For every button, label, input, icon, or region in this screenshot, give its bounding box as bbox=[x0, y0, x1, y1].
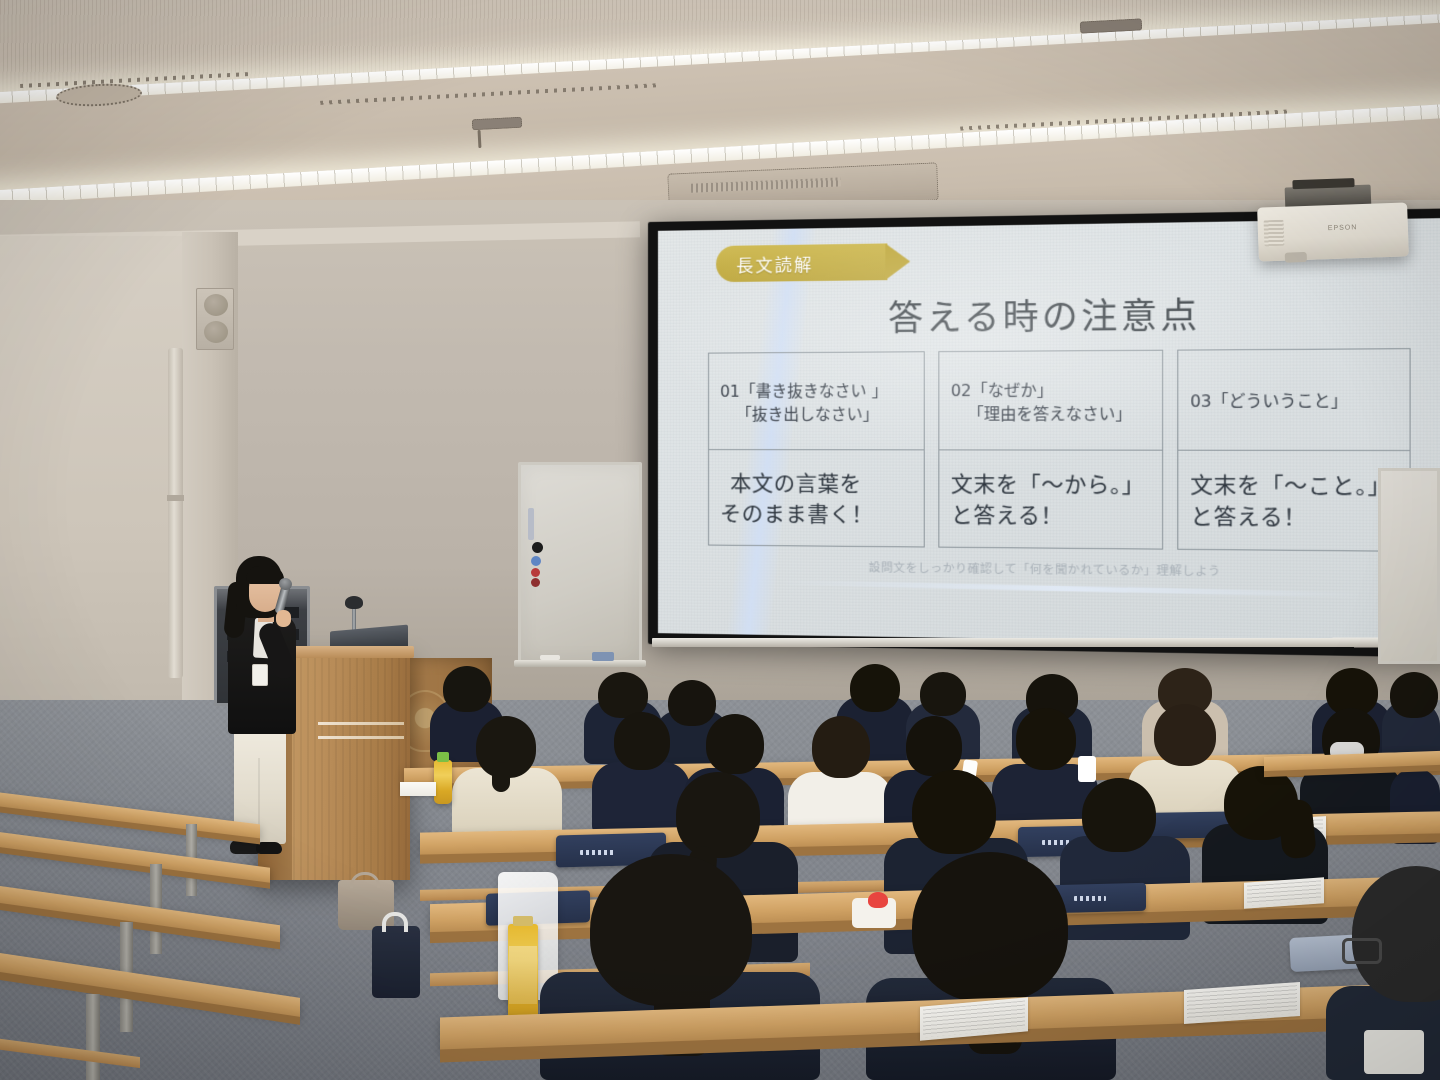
slide-cell-prompt: 01「書き抜きなさい 」 「抜き出しなさい」 bbox=[708, 351, 925, 450]
whiteboard-magnet bbox=[531, 578, 540, 587]
slide-section-tab-label: 長文読解 bbox=[736, 250, 813, 276]
student-head bbox=[443, 666, 491, 712]
projection-screen: 長文読解 答える時の注意点 01「書き抜きなさい 」 「抜き出しなさい」 本文の… bbox=[648, 208, 1440, 658]
character-charm bbox=[868, 892, 888, 908]
projection-surface: 長文読解 答える時の注意点 01「書き抜きなさい 」 「抜き出しなさい」 本文の… bbox=[658, 218, 1440, 646]
prompt-line: 03「どういうこと」 bbox=[1190, 390, 1399, 415]
whiteboard bbox=[1378, 468, 1440, 664]
left-wall bbox=[0, 236, 182, 736]
eyeglasses-icon bbox=[1342, 938, 1382, 964]
paper-lines bbox=[1187, 985, 1297, 1021]
student-head bbox=[1390, 672, 1438, 718]
prompt-line: 01「書き抜きなさい 」 bbox=[720, 379, 914, 403]
lecture-hall-scene: 長文読解 答える時の注意点 01「書き抜きなさい 」 「抜き出しなさい」 本文の… bbox=[0, 0, 1440, 1080]
student-head bbox=[706, 714, 764, 774]
whiteboard-tray bbox=[514, 660, 646, 667]
student-head bbox=[1082, 778, 1156, 852]
slide-column-02: 02「なぜか」 「理由を答えなさい」 文末を「〜から。」 と答える！ bbox=[938, 350, 1163, 550]
whiteboard-eraser bbox=[592, 652, 614, 661]
prompt-line: 「理由を答えなさい」 bbox=[951, 403, 1153, 427]
student-head bbox=[1154, 704, 1216, 766]
paper-lines bbox=[1247, 880, 1321, 905]
student-ponytail bbox=[492, 762, 510, 792]
bag-strap bbox=[382, 912, 408, 932]
bag-logo bbox=[1074, 896, 1106, 901]
pipe-joint bbox=[167, 495, 184, 501]
student-head bbox=[614, 712, 670, 770]
whiteboard-strip bbox=[528, 508, 534, 540]
slide-column-03: 03「どういうこと」 文末を「〜こと。」 と答える！ bbox=[1177, 348, 1410, 552]
slide-title: 答える時の注意点 bbox=[658, 284, 1440, 342]
whiteboard-marker bbox=[540, 655, 560, 660]
podium-accent-stripe bbox=[318, 736, 404, 739]
projector-vent bbox=[1264, 220, 1285, 247]
slide-cell-answer: 文末を「〜こと。」 と答える！ bbox=[1177, 450, 1410, 552]
presenter-hand bbox=[276, 610, 291, 627]
slide-table: 01「書き抜きなさい 」 「抜き出しなさい」 本文の言葉を そのまま書く！ 02… bbox=[708, 348, 1411, 552]
speaker-driver bbox=[204, 294, 228, 316]
speaker-driver bbox=[204, 321, 228, 343]
student-head bbox=[906, 716, 962, 776]
answer-line: 文末を「〜こと。」 bbox=[1190, 471, 1399, 503]
wall-pipe bbox=[168, 348, 183, 678]
slide-cell-answer: 本文の言葉を そのまま書く！ bbox=[708, 450, 925, 548]
answer-line: と答える！ bbox=[951, 501, 1153, 533]
bottle-cap bbox=[513, 916, 533, 926]
collar bbox=[1078, 756, 1096, 782]
answer-line: 本文の言葉を bbox=[720, 470, 914, 501]
prompt-line: 02「なぜか」 bbox=[951, 378, 1153, 403]
projector: EPSON bbox=[1257, 202, 1409, 261]
student-head bbox=[812, 716, 870, 778]
backpack-on-floor bbox=[372, 926, 420, 998]
student-head bbox=[920, 672, 966, 716]
screen-bottom-rail bbox=[652, 638, 1440, 648]
tea-bottle bbox=[508, 924, 538, 1028]
projector-brand-label: EPSON bbox=[1328, 224, 1358, 232]
podium-accent-stripe bbox=[318, 722, 404, 725]
student-head bbox=[668, 680, 716, 726]
prompt-line: 「抜き出しなさい」 bbox=[720, 403, 914, 427]
slide-caption-underline bbox=[779, 580, 1364, 598]
slide-content: 長文読解 答える時の注意点 01「書き抜きなさい 」 「抜き出しなさい」 本文の… bbox=[658, 218, 1440, 646]
whiteboard-magnet bbox=[531, 556, 541, 566]
drink-bottle bbox=[434, 760, 452, 804]
answer-line: と答える！ bbox=[1190, 502, 1399, 535]
bottle-label bbox=[509, 946, 537, 1004]
slide-cell-prompt: 03「どういうこと」 bbox=[1177, 348, 1410, 450]
microphone-head-icon bbox=[345, 596, 363, 609]
bottle-cap bbox=[437, 752, 449, 762]
presenter-name-badge bbox=[252, 664, 268, 686]
answer-line: 文末を「〜から。」 bbox=[951, 470, 1153, 502]
student-head bbox=[676, 772, 760, 858]
whiteboard-magnet bbox=[532, 542, 543, 553]
projector-lens bbox=[1285, 252, 1307, 263]
whiteboard-magnet bbox=[531, 568, 540, 577]
slide-section-tab: 長文読解 bbox=[716, 243, 887, 282]
student-head bbox=[1016, 708, 1076, 770]
answer-line: そのまま書く！ bbox=[720, 500, 914, 531]
paper-lines bbox=[923, 1001, 1025, 1038]
desk-leg bbox=[86, 994, 100, 1080]
slide-cell-answer: 文末を「〜から。」 と答える！ bbox=[938, 450, 1163, 550]
student-ponytail bbox=[1277, 798, 1317, 859]
small-box bbox=[1364, 1030, 1424, 1074]
wall-speaker bbox=[196, 288, 234, 350]
handout-paper bbox=[400, 782, 436, 796]
slide-column-01: 01「書き抜きなさい 」 「抜き出しなさい」 本文の言葉を そのまま書く！ bbox=[708, 351, 925, 547]
slide-cell-prompt: 02「なぜか」 「理由を答えなさい」 bbox=[938, 350, 1163, 450]
bag-logo bbox=[580, 850, 614, 855]
student-head bbox=[912, 770, 996, 854]
student-head bbox=[850, 664, 900, 712]
